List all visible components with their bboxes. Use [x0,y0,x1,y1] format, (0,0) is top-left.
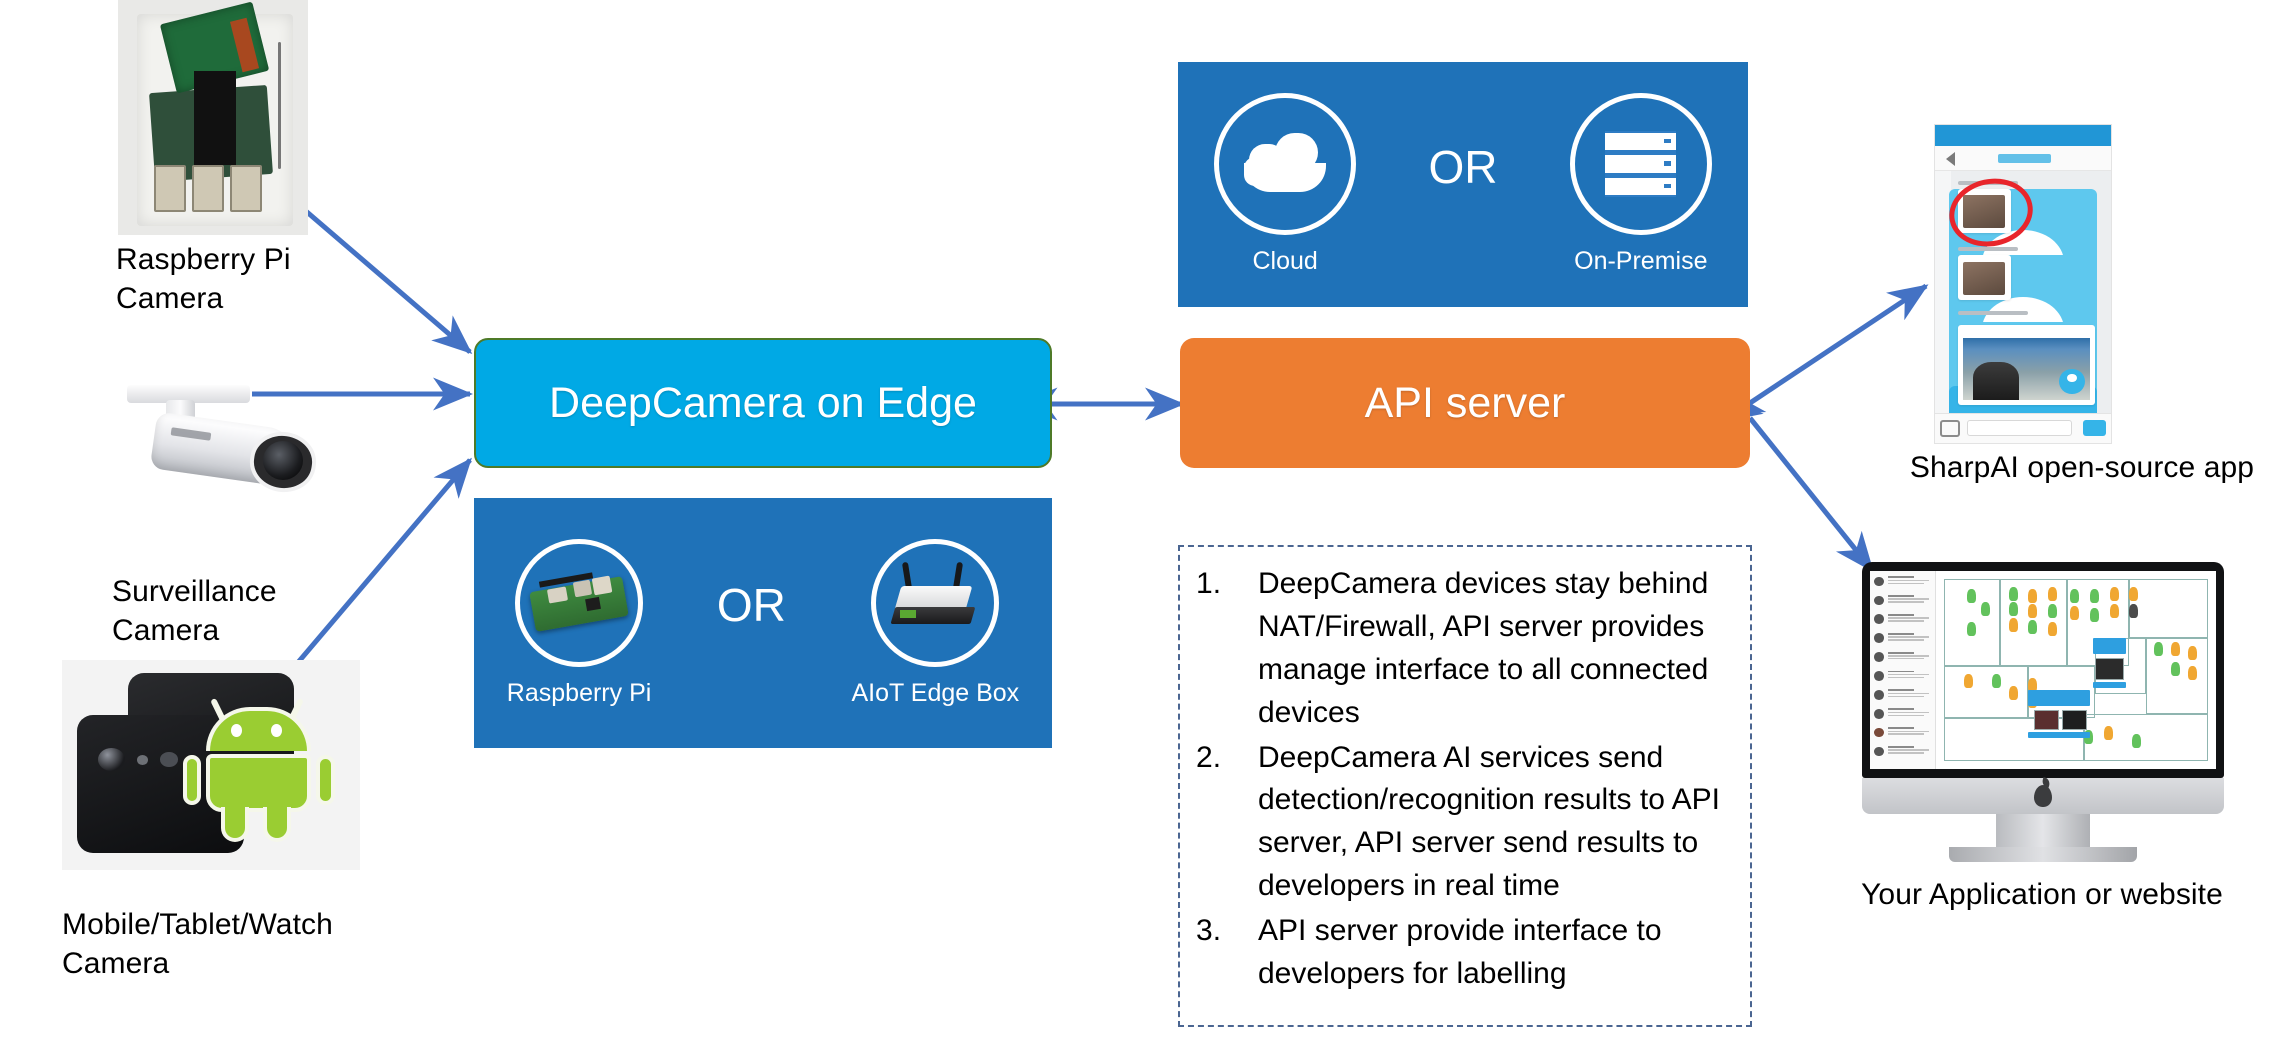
label-line-1: Raspberry Pi [116,240,346,279]
mobile-app-screenshot [1934,124,2112,444]
deployment-option-label: Cloud [1252,247,1317,276]
deepcamera-on-edge-label: DeepCamera on Edge [549,379,977,428]
sharpai-app-label: SharpAI open-source app [1872,448,2292,487]
note-text: DeepCamera AI services send detection/re… [1258,737,1728,909]
imac-desktop-screenshot [1862,562,2224,862]
surveillance-camera-label: Surveillance Camera [112,572,352,650]
hardware-option-raspberry-pi[interactable]: Raspberry Pi [507,539,652,708]
notes-list: DeepCamera devices stay behind NAT/Firew… [1196,563,1728,996]
raspberry-pi-camera-label: Raspberry Pi Camera [116,240,346,318]
note-number [1196,910,1258,953]
note-number [1196,737,1258,780]
android-phone-photo [62,660,360,870]
desktop-event-list [1870,571,1936,770]
aiot-edge-box-icon [876,544,994,662]
note-item: API server provide interface to develope… [1196,910,1728,996]
api-server-box[interactable]: API server [1180,338,1750,468]
your-application-label: Your Application or website [1842,875,2242,914]
android-robot-icon [181,698,336,845]
deployment-option-on-premise[interactable]: On-Premise [1570,93,1712,276]
arrow-api-to-desktop [1750,418,1872,570]
hardware-option-aiot-edge-box[interactable]: AIoT Edge Box [851,539,1019,708]
label-line-1: Mobile/Tablet/Watch [62,905,442,944]
arrow-api-to-app [1750,286,1926,403]
label-line-2: Camera [116,279,346,318]
deployment-or-label: OR [1428,140,1497,194]
hardware-option-label: AIoT Edge Box [851,679,1019,708]
deepcamera-on-edge-box[interactable]: DeepCamera on Edge [474,338,1052,468]
note-item: DeepCamera devices stay behind NAT/Firew… [1196,563,1728,735]
deployment-panel: Cloud OR On-Premise [1178,62,1748,307]
apple-logo-icon [2034,785,2052,807]
server-rack-icon [1605,131,1676,197]
note-item: DeepCamera AI services send detection/re… [1196,737,1728,909]
desktop-floor-plan [1936,571,2216,770]
raspberry-pi-board-icon [520,544,638,662]
cloud-icon [1244,136,1326,191]
notes-box: DeepCamera devices stay behind NAT/Firew… [1178,545,1752,1027]
label-line-2: Camera [112,611,352,650]
api-server-label: API server [1365,379,1566,428]
edge-hardware-panel: Raspberry Pi OR AIoT Edge Box [474,498,1052,748]
deployment-option-label: On-Premise [1574,247,1707,276]
bullet-camera-photo [118,370,338,520]
raspberry-pi-camera-photo [118,0,308,235]
label-line-2: Camera [62,944,442,983]
hardware-option-label: Raspberry Pi [507,679,652,708]
architecture-diagram: Raspberry Pi Camera Surveillance Camera … [0,0,2292,1062]
note-text: API server provide interface to develope… [1258,910,1728,996]
mobile-camera-label: Mobile/Tablet/Watch Camera [62,905,442,983]
deployment-option-cloud[interactable]: Cloud [1214,93,1356,276]
note-text: DeepCamera devices stay behind NAT/Firew… [1258,563,1728,735]
note-number [1196,563,1258,606]
label-line-1: Surveillance [112,572,352,611]
hardware-or-label: OR [717,578,786,632]
